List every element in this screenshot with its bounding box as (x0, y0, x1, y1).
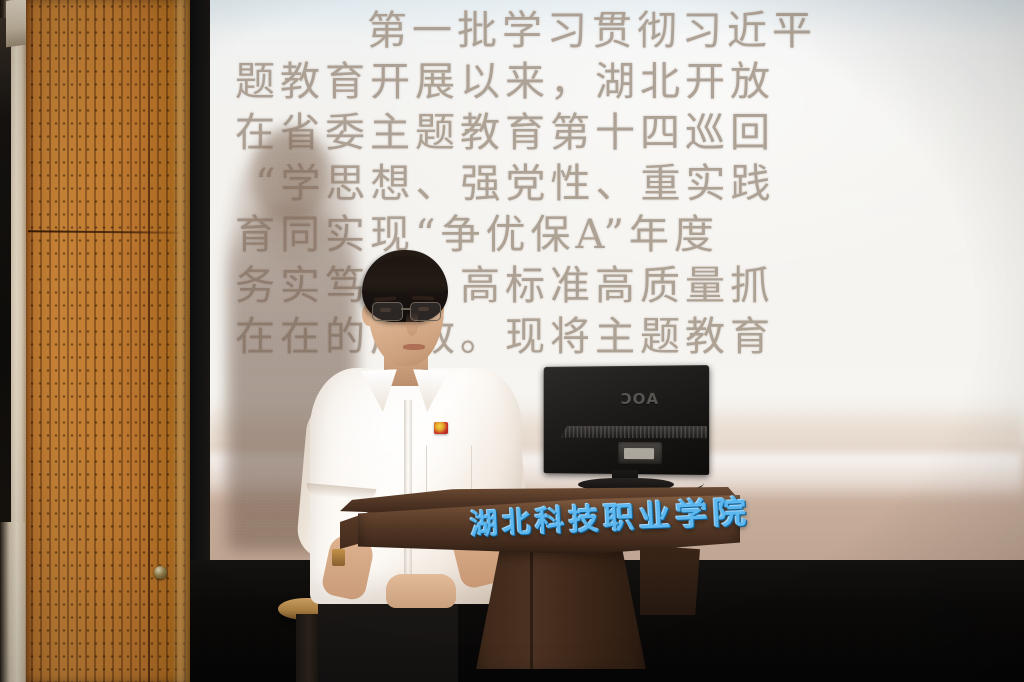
monitor-vent-grille (561, 426, 707, 438)
lectern-column (476, 549, 646, 669)
computer-monitor[interactable]: AOC (534, 366, 716, 498)
eyeglass-bridge (401, 308, 411, 310)
wood-perforation-texture (24, 0, 190, 682)
presenter-nose (406, 312, 418, 336)
door-frame-bottom-trim (0, 522, 25, 682)
wood-acoustic-panel-wall (24, 0, 190, 682)
party-emblem-pin-icon (434, 422, 448, 434)
door-frame-top-trim (6, 0, 26, 47)
monitor-rear-panel: AOC (544, 365, 709, 475)
presenter-mouth (403, 344, 425, 350)
door-knob-icon[interactable] (154, 566, 167, 579)
lectern: 湖北科技职业学院 (340, 487, 740, 682)
presenter-eyebrow-right (412, 296, 434, 301)
door-gap-shadow (0, 18, 11, 578)
wood-edge-highlight (172, 0, 190, 682)
monitor-brand-logo: AOC (610, 390, 658, 406)
eyeglass-lens-left (372, 302, 403, 321)
slide-line-2: 题教育开展以来，湖北开放 (205, 57, 1024, 108)
lectern-side-panel (640, 545, 700, 615)
wood-panel-seam-vertical (148, 0, 150, 682)
lectern-column-edge (530, 549, 533, 669)
door-frame-strip (0, 0, 26, 682)
monitor-spec-label (624, 448, 654, 459)
slide-line-1: 第一批学习贯彻习近平 (205, 6, 1024, 57)
presentation-scene: 第一批学习贯彻习近平 题教育开展以来，湖北开放 在省委主题教育第十四巡回 “学思… (0, 0, 1024, 682)
lectern-latch[interactable] (332, 549, 345, 566)
